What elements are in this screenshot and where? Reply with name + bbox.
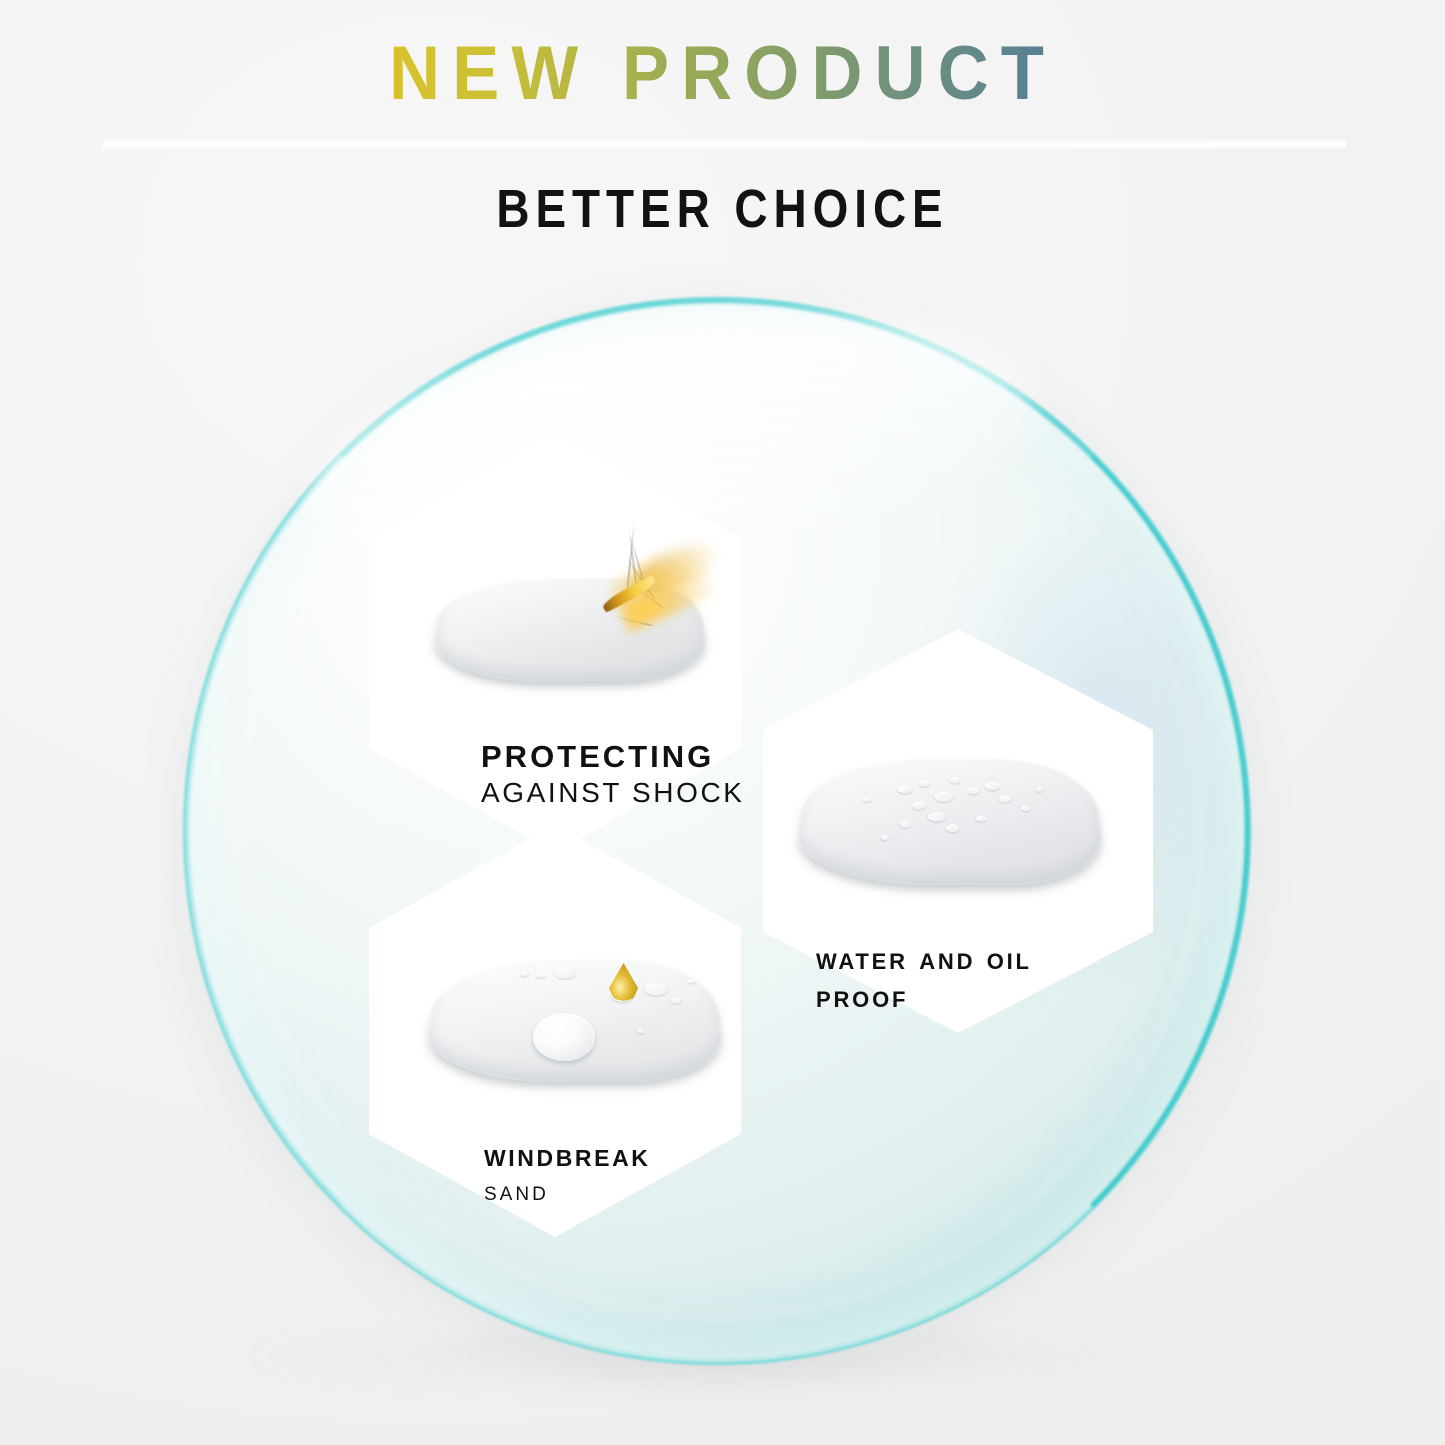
water-drop-large [533,1013,595,1061]
page-title: NEW PRODUCT [51,36,1395,112]
feature-label-line2: sand [484,1175,651,1208]
page-subtitle: BETTER CHOICE [108,178,1336,240]
feature-label-water-and-oil-proof: Water and Oil Proof [816,940,1032,1016]
header-divider [103,136,1346,152]
feature-label-windbreak-sand: Windbreak sand [484,1135,651,1208]
feature-label-line2: Proof [816,978,1032,1016]
feature-label-line1: Windbreak [484,1135,651,1175]
lens-image-shock [426,577,713,681]
feature-label-protecting-against-shock: PROTECTING AGAINST SHOCK [481,738,745,810]
divider-line [103,143,1346,147]
feature-label-line1: Water and Oil [816,940,1032,978]
feature-label-line1: PROTECTING [481,738,745,776]
product-infographic: NEW PRODUCT BETTER CHOICE PROTECTING AGA… [0,0,1445,1445]
feature-label-line2: AGAINST SHOCK [481,776,745,810]
lens-image-water [791,758,1109,885]
